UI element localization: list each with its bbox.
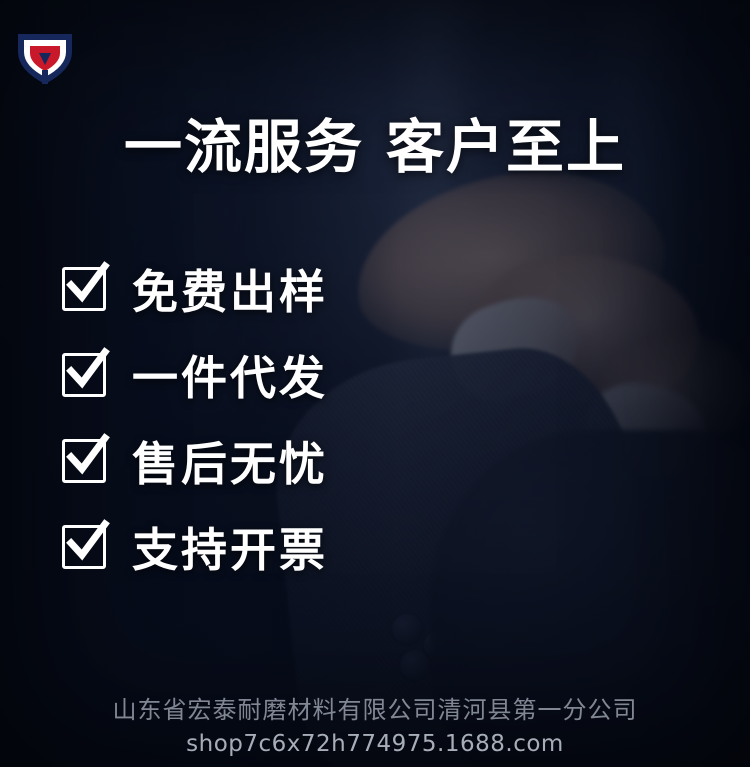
company-shield-logo [14,30,76,88]
list-item: 售后无忧 [62,418,328,504]
list-item: 一件代发 [62,332,328,418]
checkbox-checked-icon [62,525,106,569]
feature-label: 售后无忧 [132,428,328,494]
headline-part-1: 一流服务 [124,113,364,181]
feature-label: 一件代发 [132,342,328,408]
headline-part-2: 客户至上 [386,113,626,181]
feature-label: 免费出样 [132,256,328,322]
list-item: 支持开票 [62,504,328,590]
checkbox-checked-icon [62,267,106,311]
promo-banner: 一流服务客户至上 免费出样 一件代发 [0,0,750,767]
checkbox-checked-icon [62,353,106,397]
checkbox-checked-icon [62,439,106,483]
page-title: 一流服务客户至上 [0,100,750,184]
shop-url: shop7c6x72h774975.1688.com [0,731,750,757]
list-item: 免费出样 [62,246,328,332]
footer: 山东省宏泰耐磨材料有限公司清河县第一分公司 shop7c6x72h774975.… [0,690,750,757]
feature-list: 免费出样 一件代发 售后无忧 支持开票 [62,246,328,590]
feature-label: 支持开票 [132,514,328,580]
company-name: 山东省宏泰耐磨材料有限公司清河县第一分公司 [0,690,750,725]
